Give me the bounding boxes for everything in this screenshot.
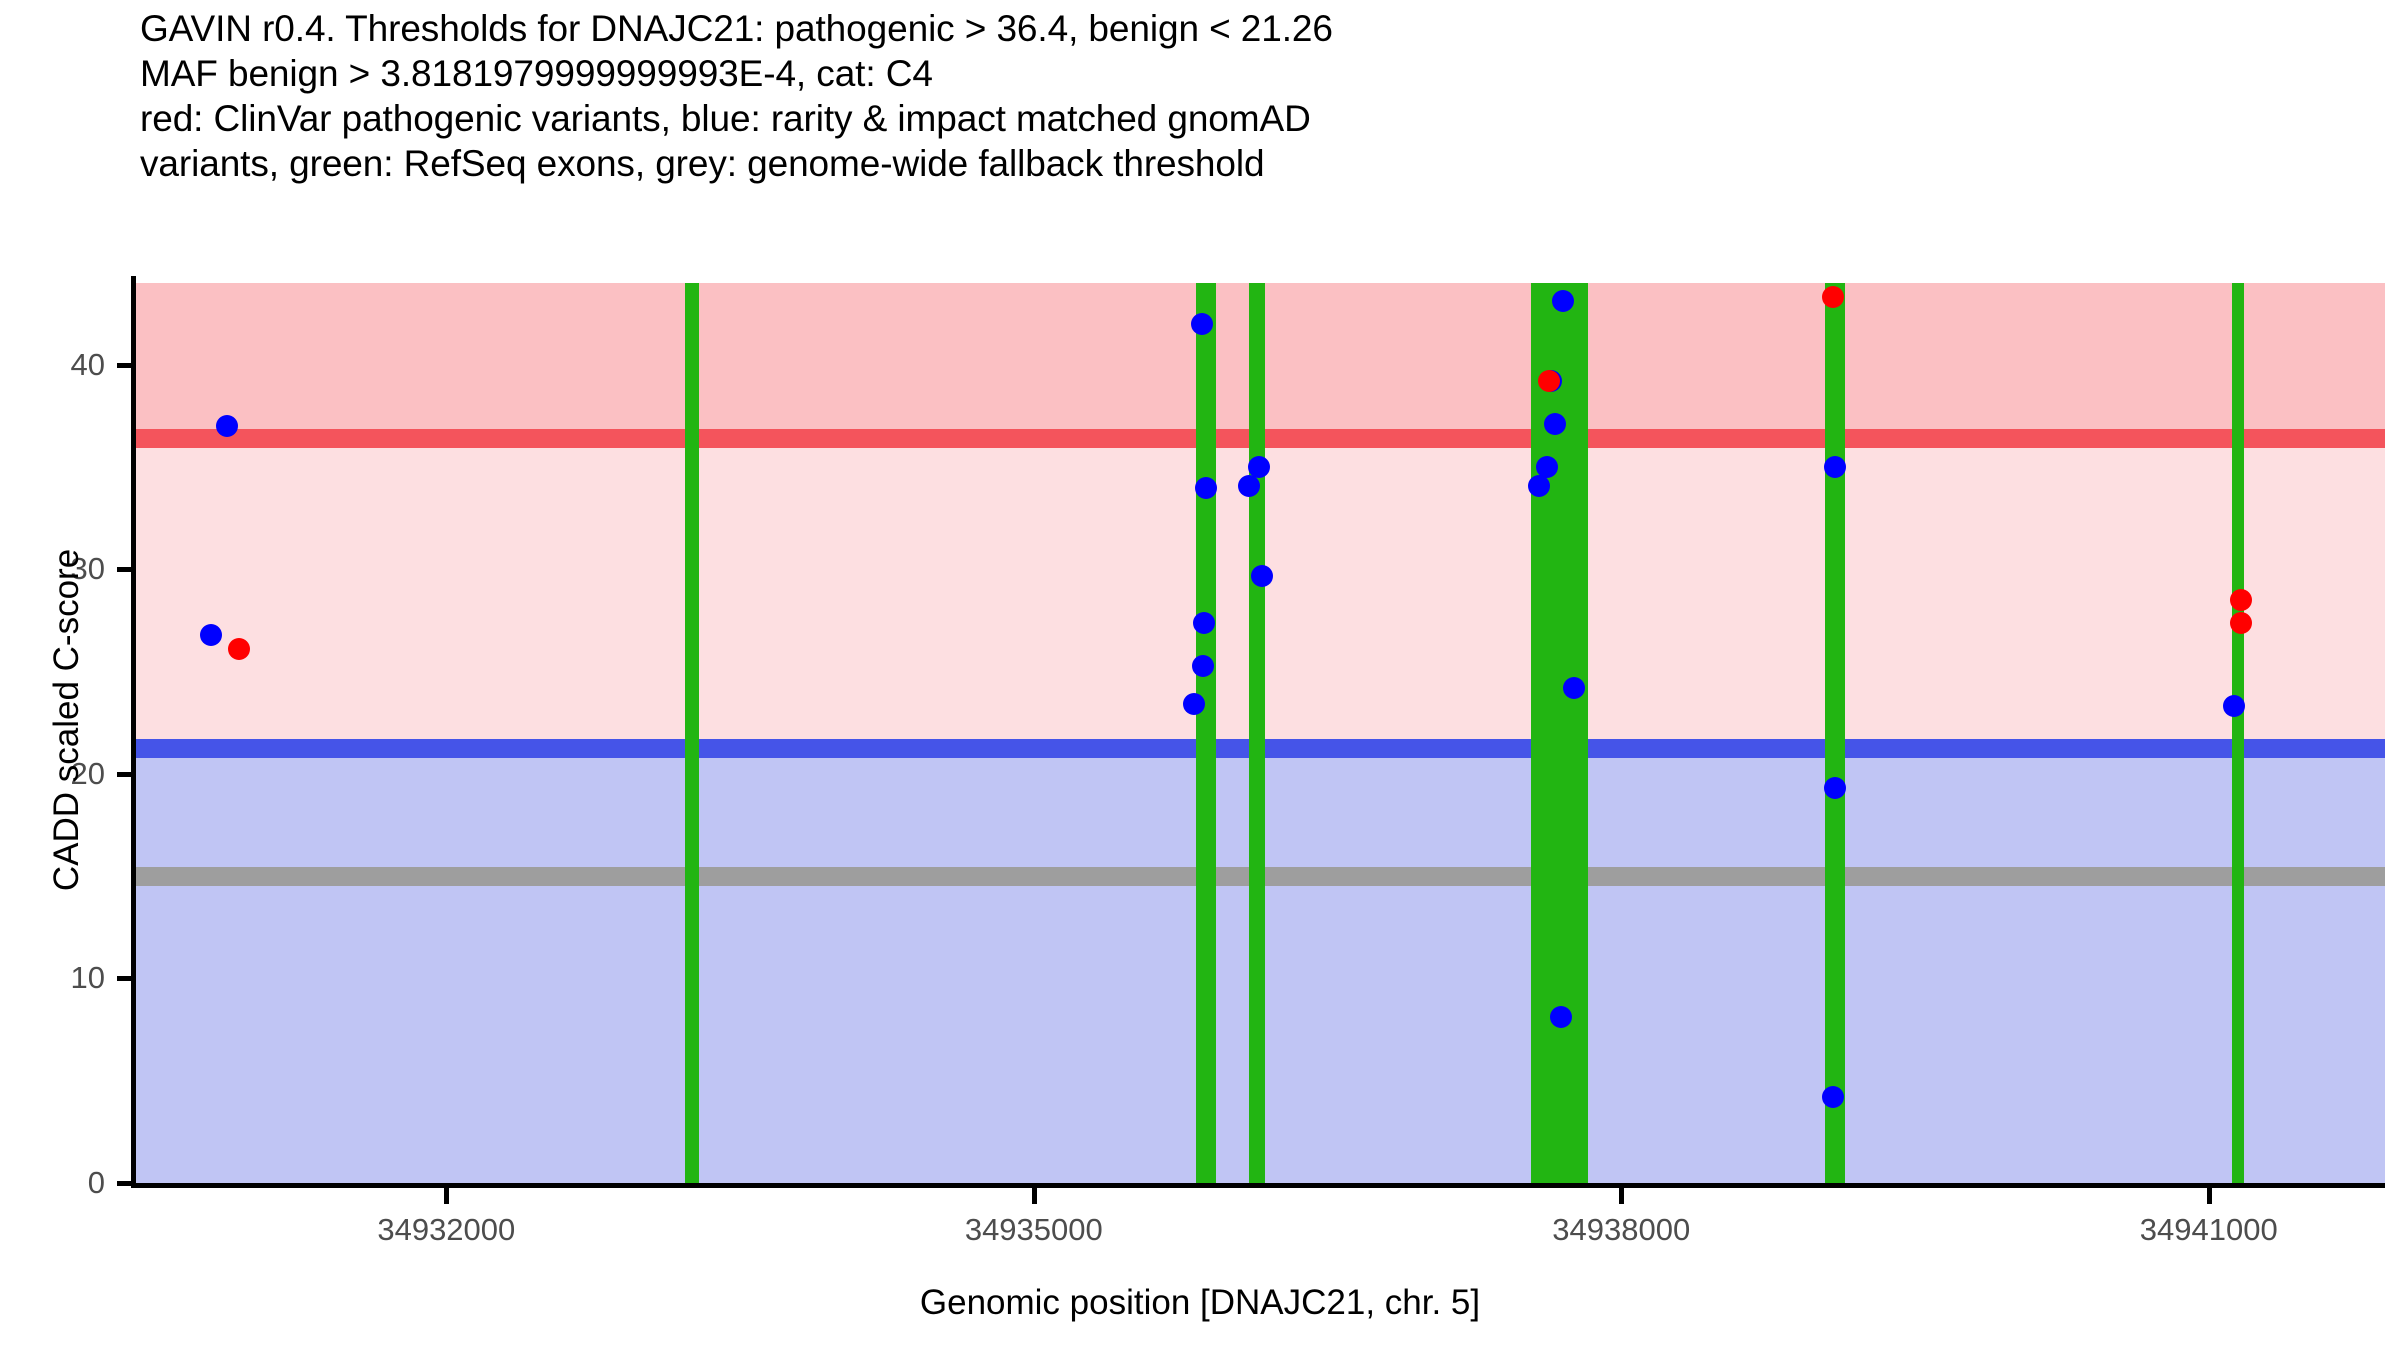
x-tick-mark-34932000 bbox=[444, 1188, 449, 1204]
y-tick-mark-30 bbox=[117, 567, 133, 572]
x-tick-label-34932000: 34932000 bbox=[377, 1212, 515, 1248]
gnomad-point-9 bbox=[1238, 475, 1260, 497]
y-axis-line bbox=[131, 276, 136, 1186]
gnomad-point-11 bbox=[1552, 290, 1574, 312]
x-tick-mark-34935000 bbox=[1032, 1188, 1037, 1204]
x-tick-label-34935000: 34935000 bbox=[965, 1212, 1103, 1248]
gnomad-point-15 bbox=[1528, 475, 1550, 497]
gnomad-point-18 bbox=[1824, 456, 1846, 478]
plot-area bbox=[133, 283, 2385, 1183]
gnomad-point-4 bbox=[1195, 477, 1217, 499]
x-tick-label-34941000: 34941000 bbox=[2140, 1212, 2278, 1248]
exon-bar-2 bbox=[1196, 283, 1216, 1183]
pathogenic-point-1 bbox=[228, 638, 250, 660]
gnomad-point-13 bbox=[1544, 413, 1566, 435]
exon-bar-5 bbox=[1825, 283, 1845, 1183]
title-line-4: variants, green: RefSeq exons, grey: gen… bbox=[140, 141, 2340, 186]
gnomad-point-20 bbox=[1822, 1086, 1844, 1108]
x-axis-title: Genomic position [DNAJC21, chr. 5] bbox=[0, 1283, 2400, 1323]
gnomad-point-19 bbox=[1824, 777, 1846, 799]
x-tick-mark-34941000 bbox=[2207, 1188, 2212, 1204]
x-tick-mark-34938000 bbox=[1619, 1188, 1624, 1204]
y-tick-mark-10 bbox=[117, 976, 133, 981]
exon-bar-6 bbox=[2232, 283, 2244, 1183]
y-tick-label-0: 0 bbox=[88, 1165, 105, 1201]
pathogenic-point-5 bbox=[2230, 612, 2252, 634]
gnomad-point-10 bbox=[1251, 565, 1273, 587]
y-tick-mark-40 bbox=[117, 363, 133, 368]
gnomad-point-6 bbox=[1192, 655, 1214, 677]
gnomad-point-17 bbox=[1550, 1006, 1572, 1028]
pathogenic-point-2 bbox=[1538, 370, 1560, 392]
gnomad-point-5 bbox=[1193, 612, 1215, 634]
gnomad-point-2 bbox=[200, 624, 222, 646]
chart-root: GAVIN r0.4. Thresholds for DNAJC21: path… bbox=[0, 0, 2400, 1350]
exon-bar-3 bbox=[1249, 283, 1265, 1183]
gnomad-point-3 bbox=[1191, 313, 1213, 335]
title-line-3: red: ClinVar pathogenic variants, blue: … bbox=[140, 96, 2340, 141]
y-axis-title: CADD scaled C-score bbox=[47, 270, 87, 1170]
gnomad-point-1 bbox=[216, 415, 238, 437]
pathogenic-point-3 bbox=[1822, 286, 1844, 308]
exon-bar-1 bbox=[685, 283, 699, 1183]
pathogenic-point-4 bbox=[2230, 589, 2252, 611]
y-tick-mark-20 bbox=[117, 772, 133, 777]
x-tick-label-34938000: 34938000 bbox=[1552, 1212, 1690, 1248]
y-tick-mark-0 bbox=[117, 1181, 133, 1186]
chart-title-block: GAVIN r0.4. Thresholds for DNAJC21: path… bbox=[140, 6, 2340, 186]
title-line-2: MAF benign > 3.8181979999999993E-4, cat:… bbox=[140, 51, 2340, 96]
title-line-1: GAVIN r0.4. Thresholds for DNAJC21: path… bbox=[140, 6, 2340, 51]
x-axis-line bbox=[131, 1183, 2385, 1188]
